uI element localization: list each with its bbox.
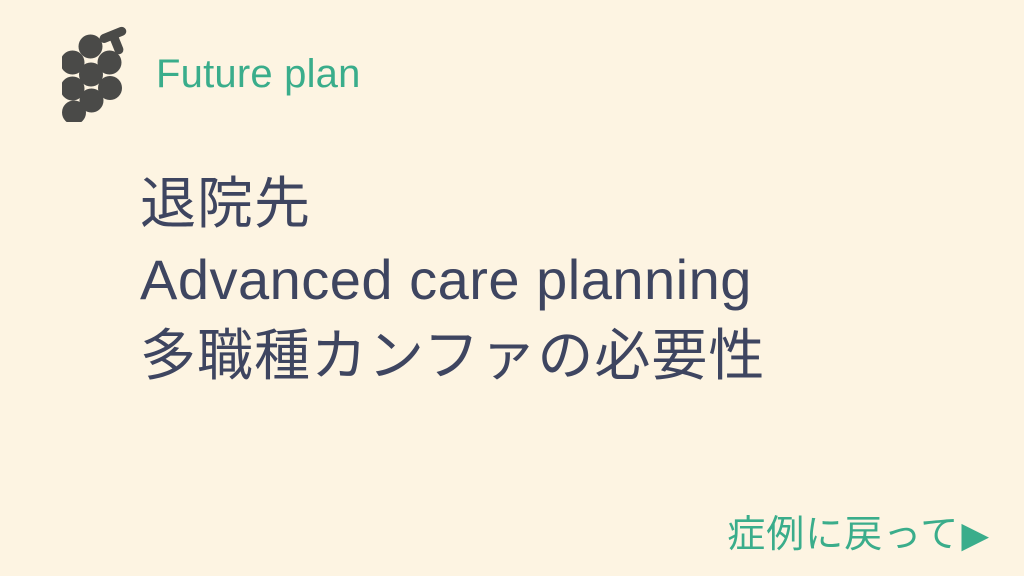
play-triangle-icon: ▶ [961, 517, 990, 553]
back-to-case-link[interactable]: 症例に戻って ▶ [727, 516, 990, 554]
headline-line-3: 多職種カンファの必要性 [140, 318, 970, 394]
back-to-case-label: 症例に戻って [727, 516, 959, 554]
headline-block: 退院先 Advanced care planning 多職種カンファの必要性 [140, 166, 970, 394]
section-label: Future plan [156, 54, 361, 94]
slide-header: Future plan [62, 26, 361, 122]
headline-line-2: Advanced care planning [140, 242, 970, 318]
slide-canvas: Future plan 退院先 Advanced care planning 多… [0, 0, 1024, 576]
headline-line-1: 退院先 [140, 166, 970, 242]
grape-cluster-icon [62, 26, 134, 122]
